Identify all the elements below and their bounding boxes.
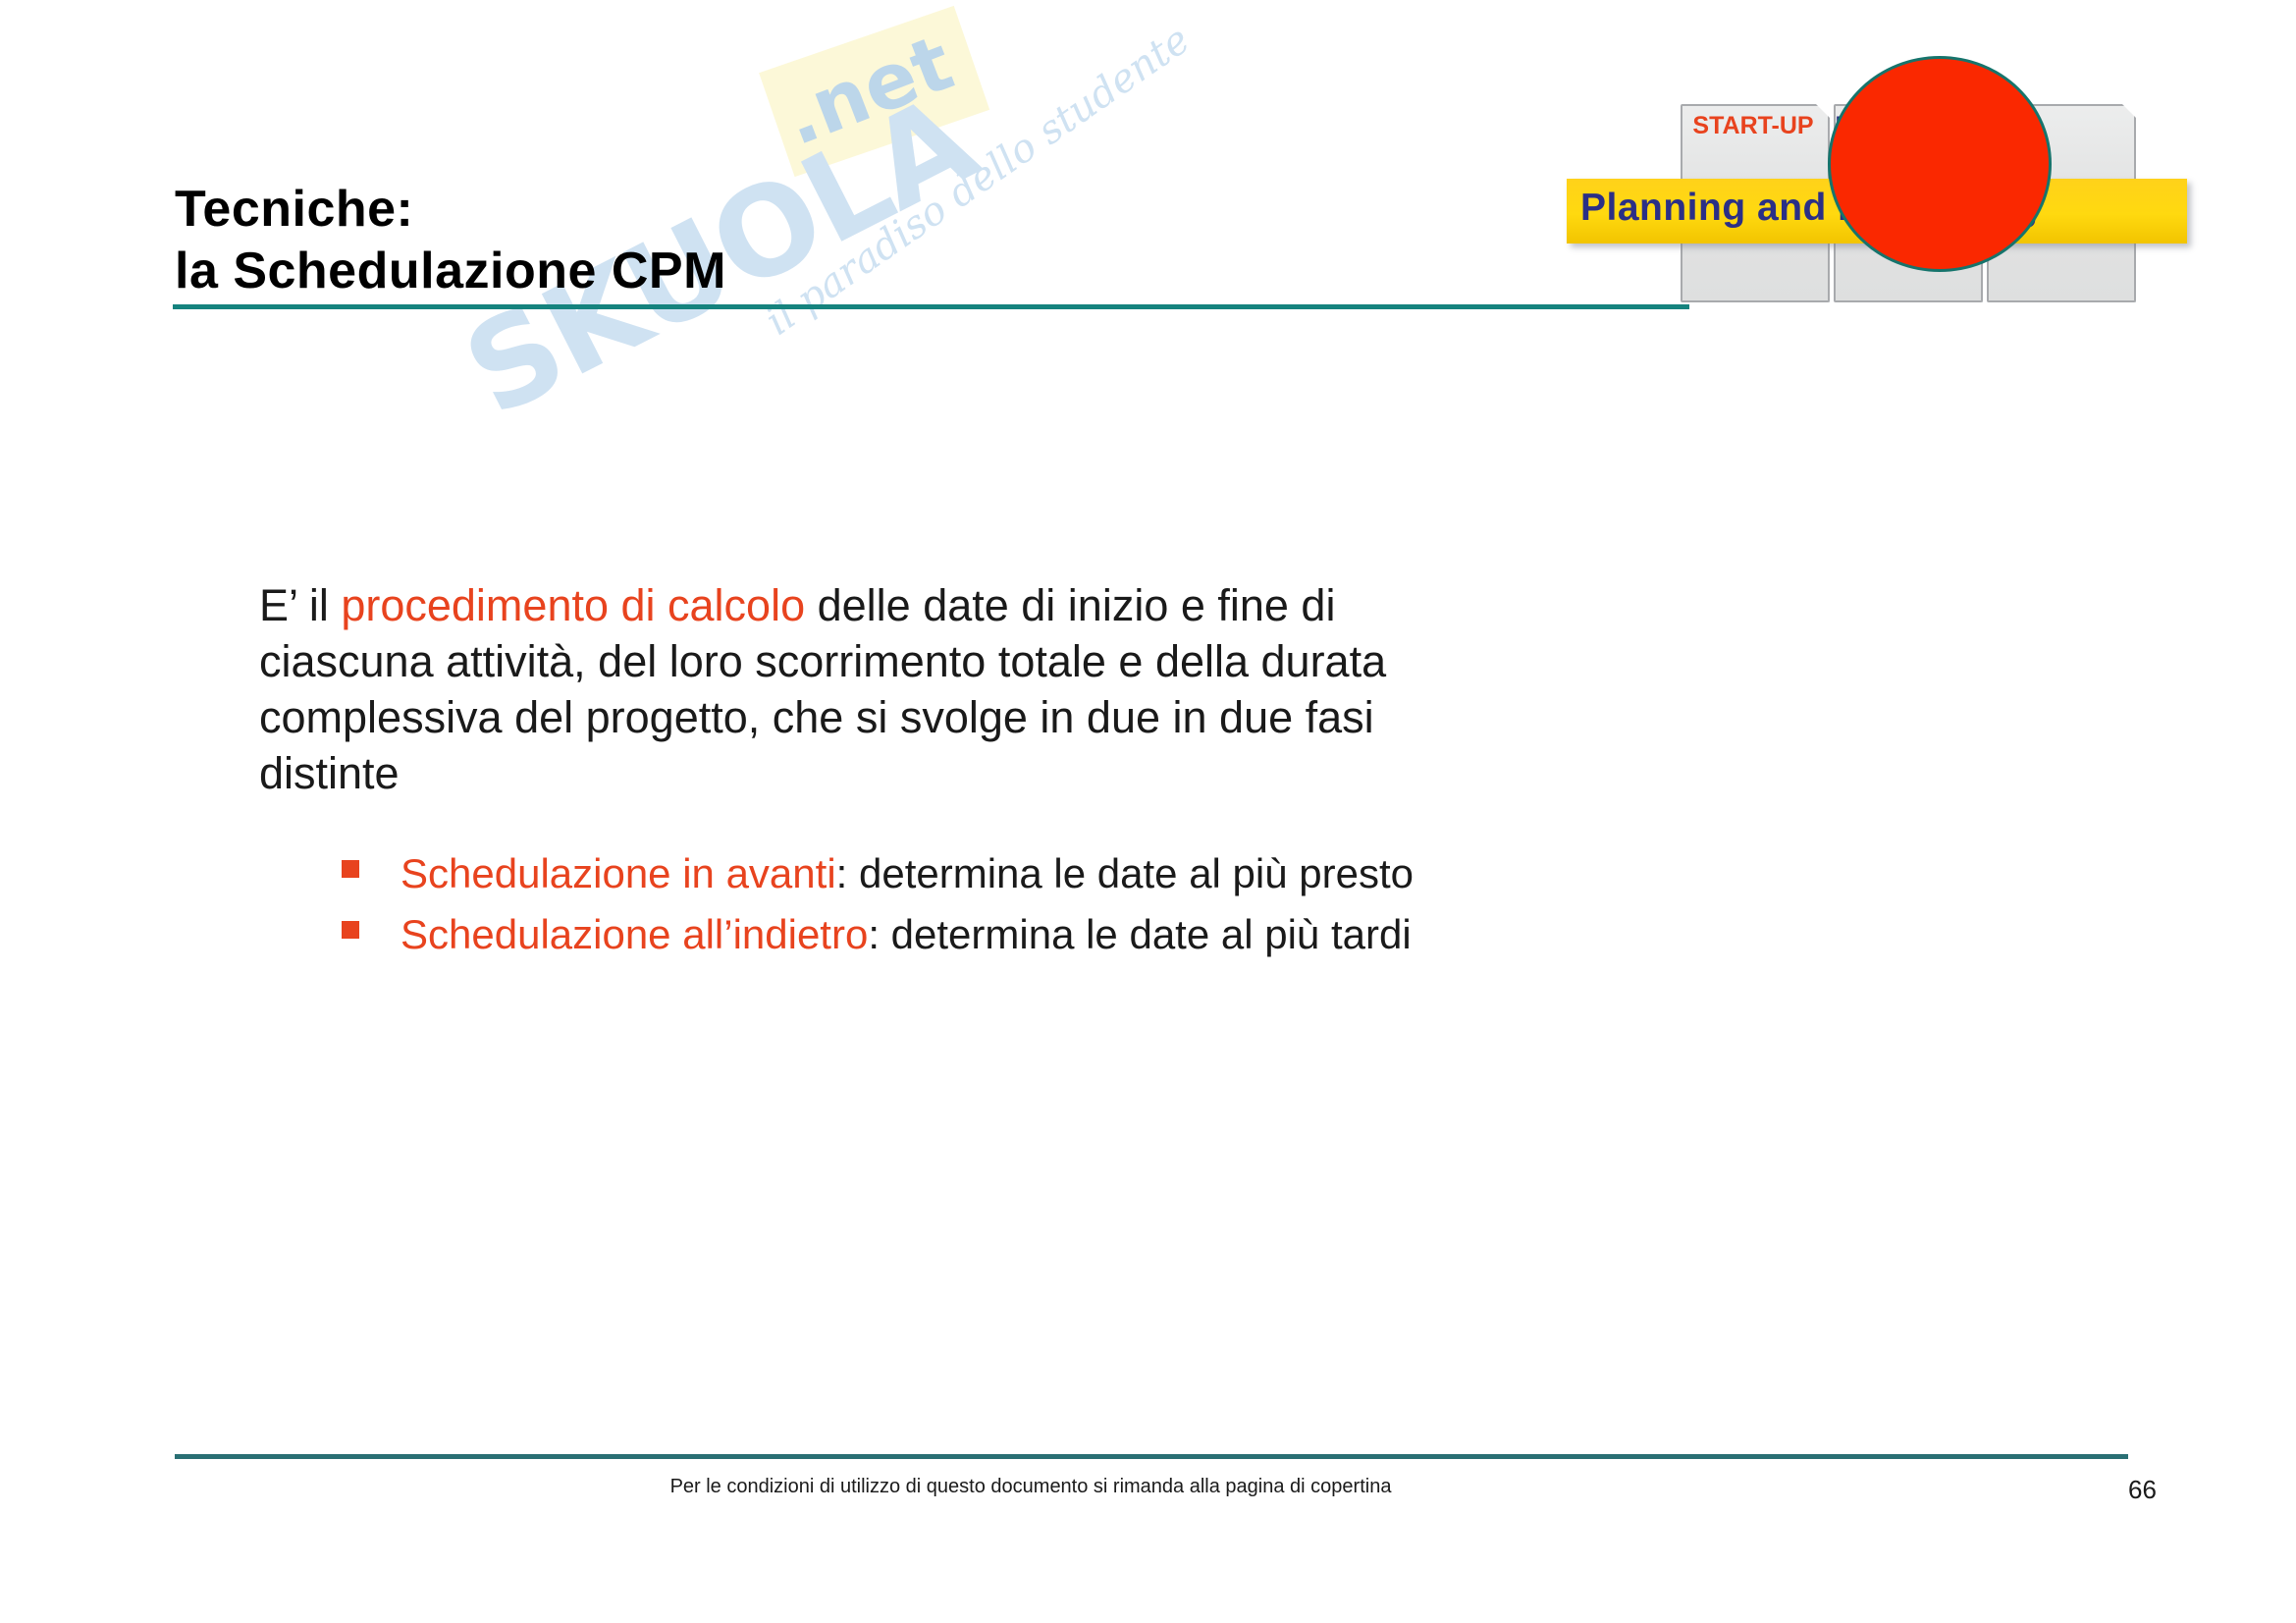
footer-note: Per le condizioni di utilizzo di questo …: [0, 1476, 2061, 1498]
slide-canvas: SKUOLA .net il paradiso dello studente T…: [0, 0, 2296, 1623]
watermark-net-text: .net: [773, 19, 965, 163]
bullet-rest-label: : determina le date al più tardi: [868, 911, 1411, 957]
bullet-rest-label: : determina le date al più presto: [836, 850, 1414, 896]
footer-divider: [175, 1454, 2128, 1459]
body-paragraph: E’ il procedimento di calcolo delle date…: [259, 577, 1506, 802]
bullet-lead-label: Schedulazione in avanti: [400, 850, 836, 896]
page-title: Tecniche: la Schedulazione CPM: [175, 179, 726, 303]
list-item: Schedulazione all’indietro: determina le…: [342, 911, 1414, 958]
square-bullet-icon: [342, 860, 359, 878]
bullet-list: Schedulazione in avanti: determina le da…: [342, 850, 1414, 972]
paragraph-highlight: procedimento di calcolo: [341, 580, 805, 630]
list-item: Schedulazione in avanti: determina le da…: [342, 850, 1414, 897]
watermark-net-badge: [759, 6, 989, 177]
title-divider: [173, 304, 1689, 309]
watermark-tagline: il paradiso dello studente: [758, 17, 1198, 344]
phase-label-start-up: START-UP: [1681, 112, 1826, 140]
red-circle-highlight-icon: [1828, 56, 2052, 272]
paragraph-part-1: E’ il: [259, 580, 341, 630]
bullet-lead-label: Schedulazione all’indietro: [400, 911, 868, 957]
page-number: 66: [2128, 1475, 2157, 1505]
square-bullet-icon: [342, 921, 359, 939]
